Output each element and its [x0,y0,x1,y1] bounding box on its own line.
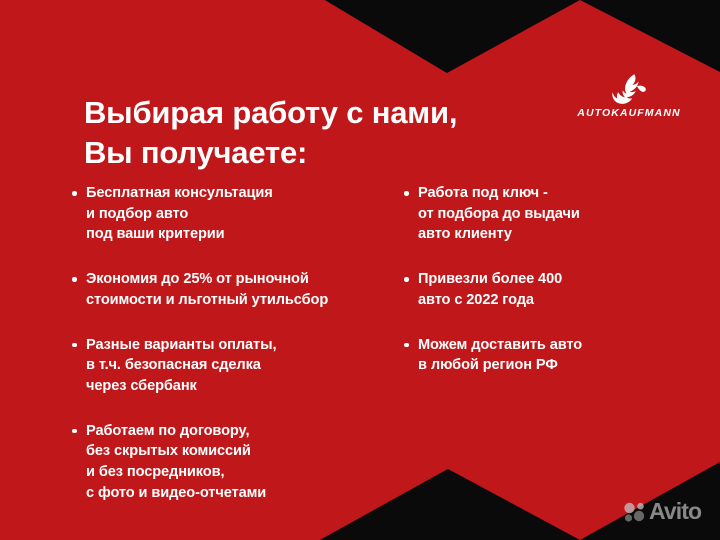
flame-icon [612,74,646,104]
page-title: Выбирая работу с нами, Вы получаете: [84,93,554,174]
list-item: Работа под ключ - от подбора до выдачи а… [404,183,704,245]
banner-content: Выбирая работу с нами, Вы получаете: AUT… [0,0,720,540]
list-item: Можем доставить авто в любой регион РФ [404,335,704,376]
brand-logo: AUTOKAUFMANN [575,74,683,119]
benefits-column-right: Работа под ключ - от подбора до выдачи а… [404,183,704,376]
list-item: Экономия до 25% от рыночной стоимости и … [72,269,402,310]
list-item: Работаем по договору, без скрытых комисс… [72,421,402,504]
avito-wordmark: Avito [649,500,701,523]
list-item: Разные варианты оплаты, в т.ч. безопасна… [72,335,402,397]
avito-dots-icon [624,502,646,522]
promo-banner: Выбирая работу с нами, Вы получаете: AUT… [0,0,720,540]
benefits-column-left: Бесплатная консультация и подбор авто по… [72,183,402,504]
brand-name: AUTOKAUFMANN [575,108,683,119]
list-item: Привезли более 400 авто с 2022 года [404,269,704,310]
list-item: Бесплатная консультация и подбор авто по… [72,183,402,245]
avito-watermark: Avito [624,500,701,523]
